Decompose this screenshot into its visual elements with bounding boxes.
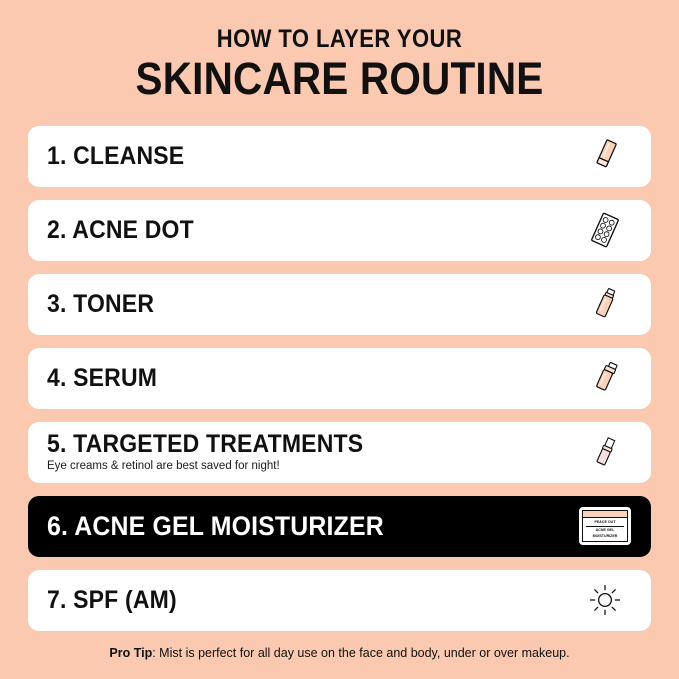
step-row-3[interactable]: 3. TONER: [28, 274, 651, 335]
steps-list: 1. CLEANSE2. ACNE DOT3. TONER4. SERUM5. …: [28, 126, 651, 631]
pro-tip-label: Pro Tip: [109, 646, 152, 660]
moisturizer-box-icon: PEACE OUTACNE GELMOISTURIZER: [576, 498, 634, 554]
header: HOW TO LAYER YOUR SKINCARE ROUTINE: [28, 0, 651, 105]
step-row-4[interactable]: 4. SERUM: [28, 348, 651, 409]
step-text-group: 3. TONER: [47, 291, 163, 318]
step-label: 1. CLEANSE: [47, 143, 184, 170]
step-label: 6. ACNE GEL MOISTURIZER: [47, 512, 384, 541]
step-row-6[interactable]: 6. ACNE GEL MOISTURIZERPEACE OUTACNE GEL…: [28, 496, 651, 557]
step-row-5[interactable]: 5. TARGETED TREATMENTSEye creams & retin…: [28, 422, 651, 483]
cleanser-tube-icon: [576, 128, 634, 184]
page-title: SKINCARE ROUTINE: [59, 54, 620, 104]
step-subtitle: Eye creams & retinol are best saved for …: [47, 460, 391, 474]
step-text-group: 5. TARGETED TREATMENTSEye creams & retin…: [47, 431, 391, 474]
step-text-group: 6. ACNE GEL MOISTURIZER: [47, 512, 413, 541]
pro-tip-footer: Pro Tip: Mist is perfect for all day use…: [28, 645, 651, 661]
step-row-1[interactable]: 1. CLEANSE: [28, 126, 651, 187]
step-label: 5. TARGETED TREATMENTS: [47, 431, 363, 458]
serum-bottle-icon: [576, 350, 634, 406]
treatment-stick-icon: [576, 424, 634, 480]
infographic-root: HOW TO LAYER YOUR SKINCARE ROUTINE 1. CL…: [0, 0, 679, 679]
step-text-group: 1. CLEANSE: [47, 143, 196, 170]
pro-tip-text: : Mist is perfect for all day use on the…: [152, 646, 569, 660]
step-label: 3. TONER: [47, 291, 154, 318]
kicker-text: HOW TO LAYER YOUR: [65, 26, 613, 52]
step-text-group: 2. ACNE DOT: [47, 217, 207, 244]
toner-bottle-icon: [576, 276, 634, 332]
acne-dot-patch-icon: [576, 202, 634, 258]
step-label: 4. SERUM: [47, 365, 157, 392]
sun-icon: [576, 572, 634, 628]
step-row-7[interactable]: 7. SPF (AM): [28, 570, 651, 631]
step-label: 7. SPF (AM): [47, 587, 177, 614]
step-row-2[interactable]: 2. ACNE DOT: [28, 200, 651, 261]
step-text-group: 4. SERUM: [47, 365, 167, 392]
step-label: 2. ACNE DOT: [47, 217, 194, 244]
step-text-group: 7. SPF (AM): [47, 587, 188, 614]
